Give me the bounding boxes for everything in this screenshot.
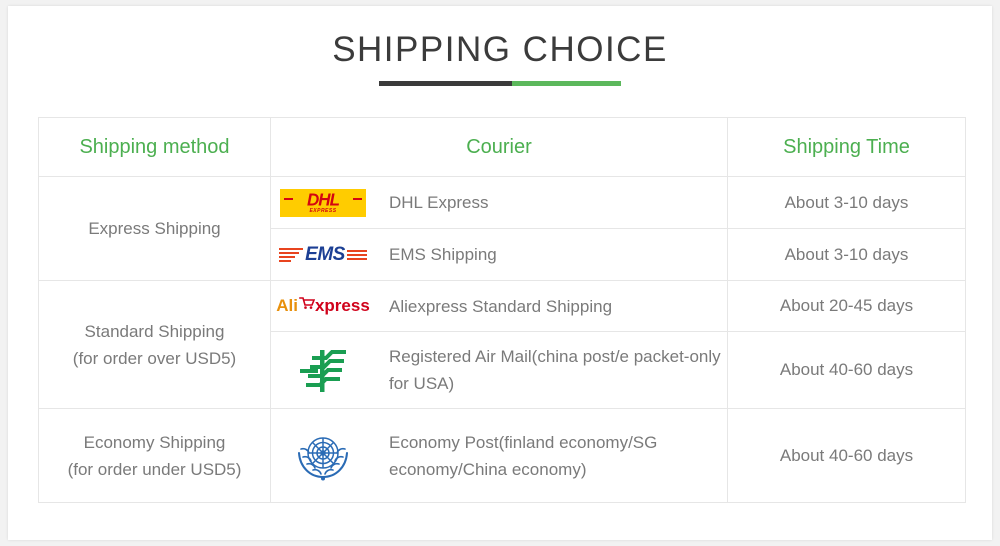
- table-row: Express Shipping DHL EXPRESS: [39, 177, 966, 229]
- dhl-logo-word: DHL: [307, 191, 339, 208]
- ems-logo: EMS: [271, 240, 375, 270]
- page-title: SHIPPING CHOICE: [8, 28, 992, 72]
- dhl-logo: DHL EXPRESS: [271, 189, 375, 217]
- un-logo: [271, 427, 375, 485]
- time-aliexpress: About 20-45 days: [728, 281, 966, 332]
- method-standard-shipping: Standard Shipping (for order over USD5): [39, 281, 271, 409]
- title-underline-green: [512, 81, 621, 86]
- china-post-logo: [271, 345, 375, 395]
- time-economy-post: About 40-60 days: [728, 409, 966, 503]
- courier-label: Registered Air Mail(china post/e packet-…: [389, 343, 727, 397]
- shipping-table: Shipping method Courier Shipping Time Ex…: [38, 117, 966, 503]
- shipping-table-wrap: Shipping method Courier Shipping Time Ex…: [38, 117, 965, 503]
- header-shipping-time: Shipping Time: [728, 118, 966, 177]
- method-economy-shipping: Economy Shipping (for order under USD5): [39, 409, 271, 503]
- time-china-post: About 40-60 days: [728, 332, 966, 409]
- header-courier: Courier: [271, 118, 728, 177]
- courier-cell-economy-post: Economy Post(finland economy/SG economy/…: [271, 409, 728, 503]
- method-line-1: Economy Shipping: [39, 429, 270, 456]
- header-shipping-method: Shipping method: [39, 118, 271, 177]
- courier-cell-ems: EMS EMS Shipping: [271, 229, 728, 281]
- courier-label: EMS Shipping: [389, 241, 497, 268]
- shipping-choice-card: SHIPPING CHOICE Shipping method Courier …: [8, 6, 992, 540]
- table-header-row: Shipping method Courier Shipping Time: [39, 118, 966, 177]
- aliexpress-logo: Ali xpress: [271, 296, 375, 316]
- courier-cell-aliexpress: Ali xpress: [271, 281, 728, 332]
- method-line-2: (for order over USD5): [39, 345, 270, 372]
- page-title-block: SHIPPING CHOICE: [8, 28, 992, 86]
- title-underline: [379, 81, 621, 86]
- time-ems: About 3-10 days: [728, 229, 966, 281]
- aliexpress-logo-ali: Ali: [276, 296, 298, 316]
- table-row: Standard Shipping (for order over USD5) …: [39, 281, 966, 332]
- shopping-cart-icon: [299, 296, 315, 316]
- table-row: Economy Shipping (for order under USD5): [39, 409, 966, 503]
- title-underline-dark: [379, 81, 512, 86]
- ems-logo-word: EMS: [305, 245, 345, 265]
- courier-label: Aliexpress Standard Shipping: [389, 293, 612, 320]
- method-express-shipping: Express Shipping: [39, 177, 271, 281]
- courier-label: DHL Express: [389, 189, 489, 216]
- method-line-1: Standard Shipping: [39, 318, 270, 345]
- courier-label: Economy Post(finland economy/SG economy/…: [389, 429, 727, 483]
- courier-cell-dhl: DHL EXPRESS DHL Express: [271, 177, 728, 229]
- time-dhl: About 3-10 days: [728, 177, 966, 229]
- method-line-2: (for order under USD5): [39, 456, 270, 483]
- aliexpress-logo-xpress: xpress: [315, 296, 370, 316]
- courier-cell-china-post: Registered Air Mail(china post/e packet-…: [271, 332, 728, 409]
